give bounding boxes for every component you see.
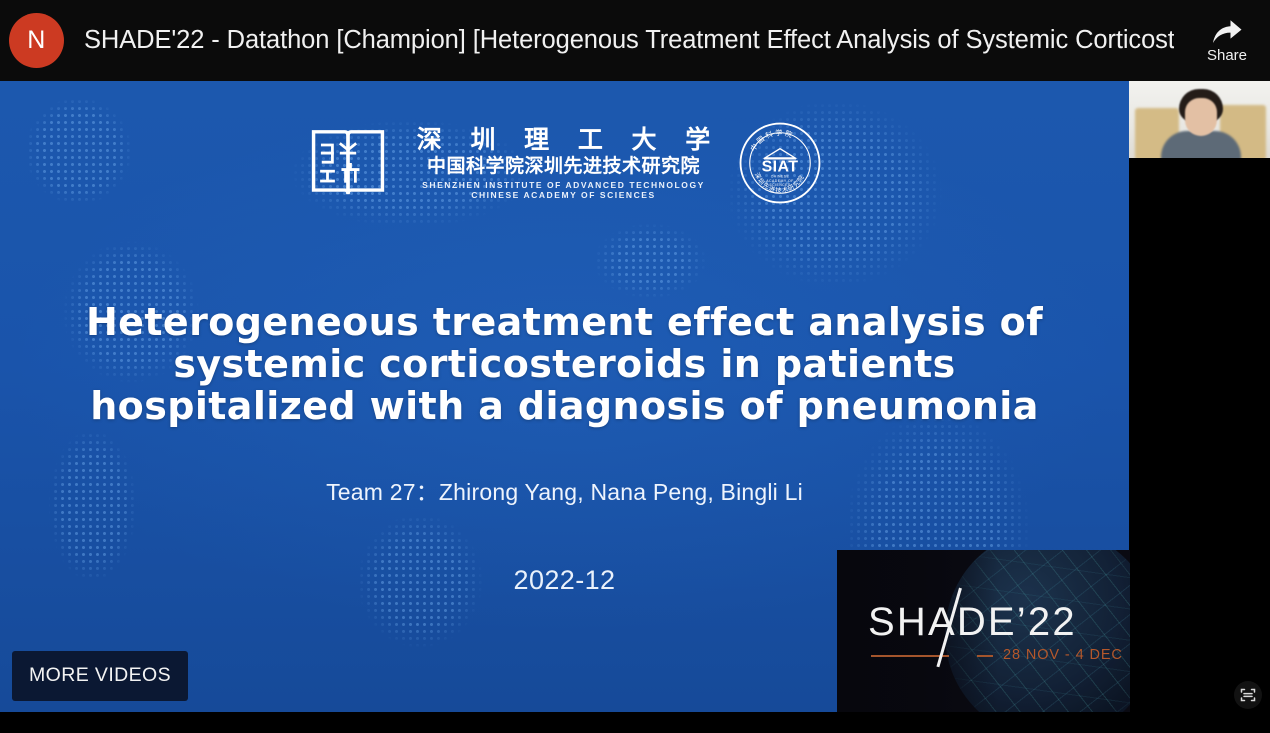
shade-wordmark: SHADE’22 [868,602,1077,642]
more-videos-button[interactable]: MORE VIDEOS [12,651,188,701]
institution-chinese-name: 深 圳 理 工 大 学 [407,127,721,152]
share-button[interactable]: Share [1194,8,1260,72]
shade-branding-overlay: SHADE’22 28 NOV - 4 DEC [837,550,1130,712]
shade-rule-left [871,655,949,657]
presenter-webcam-feed [1129,81,1270,158]
svg-text:SIAT: SIAT [762,158,799,175]
share-arrow-icon [1210,18,1244,46]
channel-avatar-initial: N [27,26,46,55]
slide-title: Heterogeneous treatment effect analysis … [0,303,1129,425]
slide-title-line-3: hospitalized with a diagnosis of pneumon… [70,387,1059,425]
institution-english-line-1: SHENZHEN INSTITUTE OF ADVANCED TECHNOLOG… [422,181,705,190]
video-player: N SHADE'22 - Datathon [Champion] [Hetero… [0,0,1270,733]
institution-logo-band: 深 圳 理 工 大 学 中国科学院深圳先进技术研究院 SHENZHEN INST… [0,121,1129,205]
shade-event-dates: 28 NOV - 4 DEC [1003,647,1123,663]
institution-english-line-2: CHINESE ACADEMY OF SCIENCES [471,191,655,200]
institution-chinese-institute: 中国科学院深圳先进技术研究院 [427,157,700,176]
open-book-logo-icon [307,122,389,204]
scan-fullscreen-icon[interactable] [1234,681,1262,709]
share-button-label: Share [1207,48,1247,63]
video-title[interactable]: SHADE'22 - Datathon [Champion] [Heteroge… [84,26,1174,55]
slide-title-line-2: systemic corticosteroids in patients [70,345,1059,383]
siat-seal-icon: 中国科学院 深圳先进技术研究院 SIAT CHINESE ACADEMY OF … [738,121,822,205]
institution-name-block: 深 圳 理 工 大 学 中国科学院深圳先进技术研究院 SHENZHEN INST… [407,127,721,200]
channel-avatar[interactable]: N [9,13,64,68]
slide-title-line-1: Heterogeneous treatment effect analysis … [70,303,1059,341]
shade-rule-dash [977,655,993,657]
slide-team-line: Team 27：Zhirong Yang, Nana Peng, Bingli … [0,473,1129,507]
svg-text:SCIENCES: SCIENCES [770,183,792,187]
player-bottom-strip [0,712,1270,733]
player-top-bar: N SHADE'22 - Datathon [Champion] [Hetero… [0,0,1270,81]
video-stage: 深 圳 理 工 大 学 中国科学院深圳先进技术研究院 SHENZHEN INST… [0,81,1270,733]
